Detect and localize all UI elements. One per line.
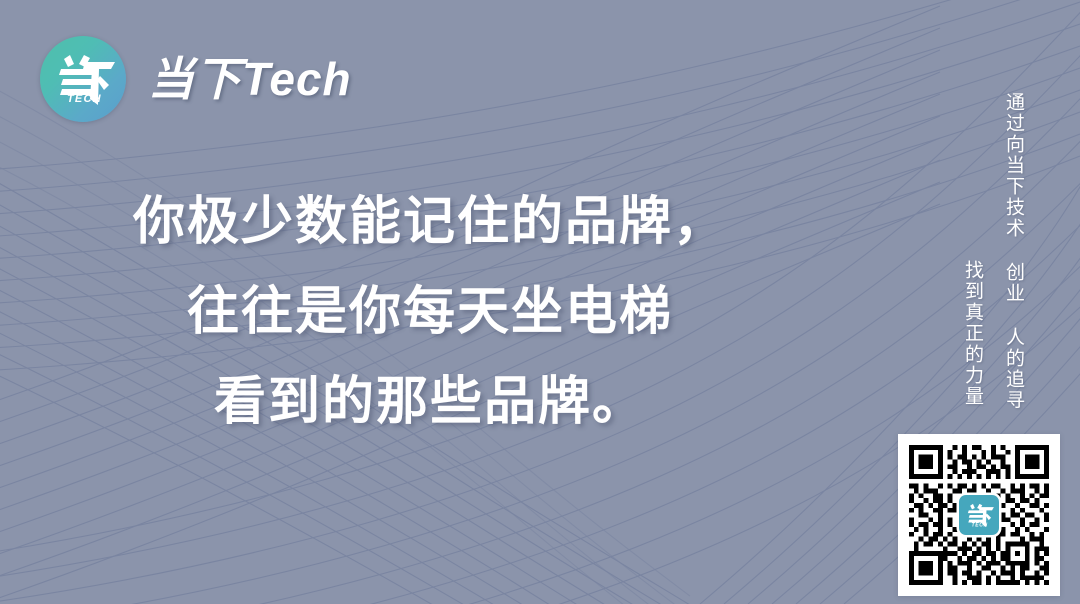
- vertical-tagline: 找到真正的力量 通过向当下技术 创业 人的追寻: [958, 92, 1026, 411]
- headline-line-3: 看到的那些品牌。: [0, 376, 860, 428]
- tagline-column-2: 找到真正的力量: [958, 92, 985, 411]
- tagline-column-1: 通过向当下技术 创业 人的追寻: [999, 92, 1026, 411]
- headline-line-2: 往往是你每天坐电梯: [0, 286, 860, 338]
- qr-code[interactable]: TECH: [898, 434, 1060, 596]
- logo-sub-text: TECH: [67, 93, 102, 105]
- poster-canvas: TECH 当下Tech 你极少数能记住的品牌， 往往是你每天坐电梯 看到的那些品…: [0, 0, 1080, 604]
- svg-text:TECH: TECH: [972, 523, 988, 529]
- dangxia-tech-circle-logo-icon: TECH: [40, 36, 126, 122]
- brand-header: TECH 当下Tech: [40, 36, 352, 122]
- headline-block: 你极少数能记住的品牌， 往往是你每天坐电梯 看到的那些品牌。: [0, 196, 860, 428]
- headline-line-1: 你极少数能记住的品牌，: [0, 196, 860, 248]
- dangxia-tech-badge-logo-icon: TECH: [959, 495, 999, 535]
- brand-name: 当下Tech: [148, 56, 352, 102]
